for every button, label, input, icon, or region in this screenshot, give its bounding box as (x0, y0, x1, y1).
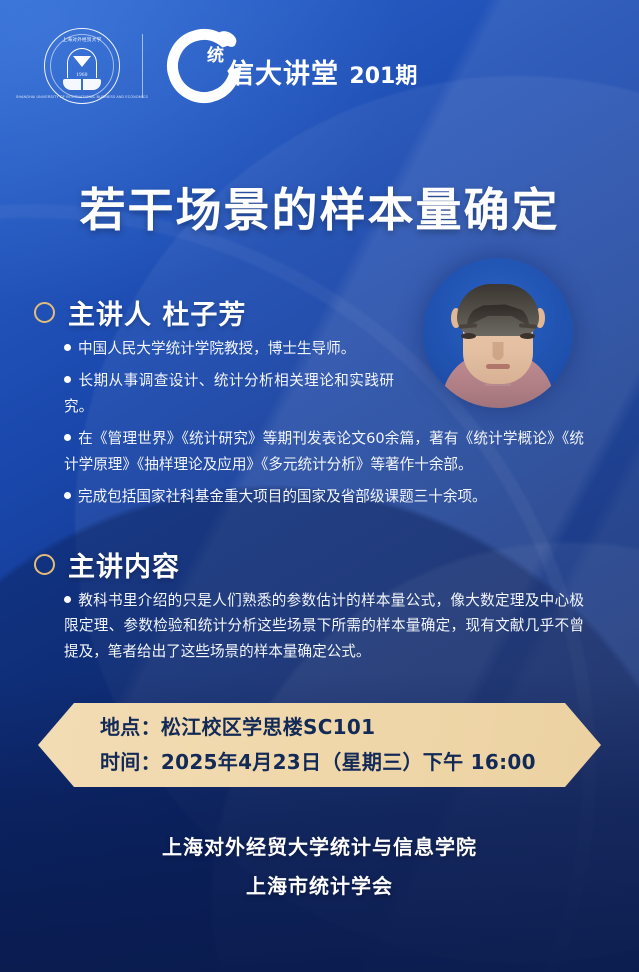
event-details-banner: 地点：松江校区学思楼SC101 时间：2025年4月23日（星期三）下午 16:… (38, 703, 601, 787)
list-item: 长期从事调查设计、统计分析相关理论和实践研究。 (64, 368, 394, 419)
seal-book-shape (63, 79, 101, 90)
bullet-dot-icon (64, 376, 71, 383)
footer-organizer-1: 上海对外经贸大学统计与信息学院 (0, 828, 639, 867)
poster-header: 上海对外经贸大学 1960 SHANGHAI UNIVERSITY OF INT… (0, 0, 639, 132)
content-section-heading: 主讲内容 (34, 545, 180, 584)
list-item: 完成包括国家社科基金重大项目的国家及省部级课题三十余项。 (64, 484, 584, 509)
header-divider (142, 34, 143, 98)
speaker-heading-label: 主讲人 杜子芳 (68, 293, 246, 332)
seal-top-text: 上海对外经贸大学 (62, 37, 101, 43)
list-item-text: 完成包括国家社科基金重大项目的国家及省部级课题三十余项。 (78, 488, 487, 505)
list-item-text: 中国人民大学统计学院教授，博士生导师。 (78, 340, 355, 357)
list-item: 在《管理世界》《统计研究》等期刊发表论文60余篇，著有《统计学概论》《统计学原理… (64, 426, 584, 477)
bullet-dot-icon (64, 596, 71, 603)
page-title: 若干场景的样本量确定 (0, 174, 639, 240)
seal-year: 1960 (76, 73, 88, 78)
lecture-brand-logo: 统 信大讲堂 201期 (167, 29, 417, 103)
bullet-dot-icon (64, 492, 71, 499)
brand-lecture-label: 信大讲堂 (227, 59, 339, 90)
university-seal-logo: 上海对外经贸大学 1960 SHANGHAI UNIVERSITY OF INT… (44, 28, 120, 104)
bullet-dot-icon (64, 434, 71, 441)
brand-mark-character: 统 (207, 41, 224, 66)
speaker-bullet-list: 中国人民大学统计学院教授，博士生导师。 长期从事调查设计、统计分析相关理论和实践… (64, 336, 584, 516)
footer-organizer-2: 上海市统计学会 (0, 867, 639, 906)
list-item-text: 教科书里介绍的只是人们熟悉的参数估计的样本量公式，像大数定理及中心极限定理、参数… (64, 592, 584, 660)
brush-circle-icon (167, 29, 241, 103)
circle-marker-icon (34, 554, 55, 575)
poster-root: 上海对外经贸大学 1960 SHANGHAI UNIVERSITY OF INT… (0, 0, 639, 972)
brand-lecture-name: 信大讲堂 201期 (227, 45, 417, 88)
list-item: 中国人民大学统计学院教授，博士生导师。 (64, 336, 394, 361)
seal-chevron-shape (73, 56, 91, 67)
circle-marker-icon (34, 302, 55, 323)
list-item-text: 长期从事调查设计、统计分析相关理论和实践研究。 (64, 372, 394, 414)
content-bullet-list: 教科书里介绍的只是人们熟悉的参数估计的样本量公式，像大数定理及中心极限定理、参数… (64, 588, 584, 671)
brand-issue-number: 201期 (349, 64, 417, 89)
avatar-hair (457, 284, 539, 336)
speaker-section-heading: 主讲人 杜子芳 (34, 293, 246, 332)
event-time: 时间：2025年4月23日（星期三）下午 16:00 (100, 745, 601, 780)
list-item: 教科书里介绍的只是人们熟悉的参数估计的样本量公式，像大数定理及中心极限定理、参数… (64, 588, 584, 664)
list-item-text: 在《管理世界》《统计研究》等期刊发表论文60余篇，著有《统计学概论》《统计学原理… (64, 430, 584, 472)
content-heading-label: 主讲内容 (68, 545, 180, 584)
bullet-dot-icon (64, 344, 71, 351)
seal-bottom-text: SHANGHAI UNIVERSITY OF INTERNATIONAL BUS… (16, 95, 148, 99)
event-location: 地点：松江校区学思楼SC101 (100, 710, 601, 745)
poster-footer: 上海对外经贸大学统计与信息学院 上海市统计学会 (0, 828, 639, 906)
